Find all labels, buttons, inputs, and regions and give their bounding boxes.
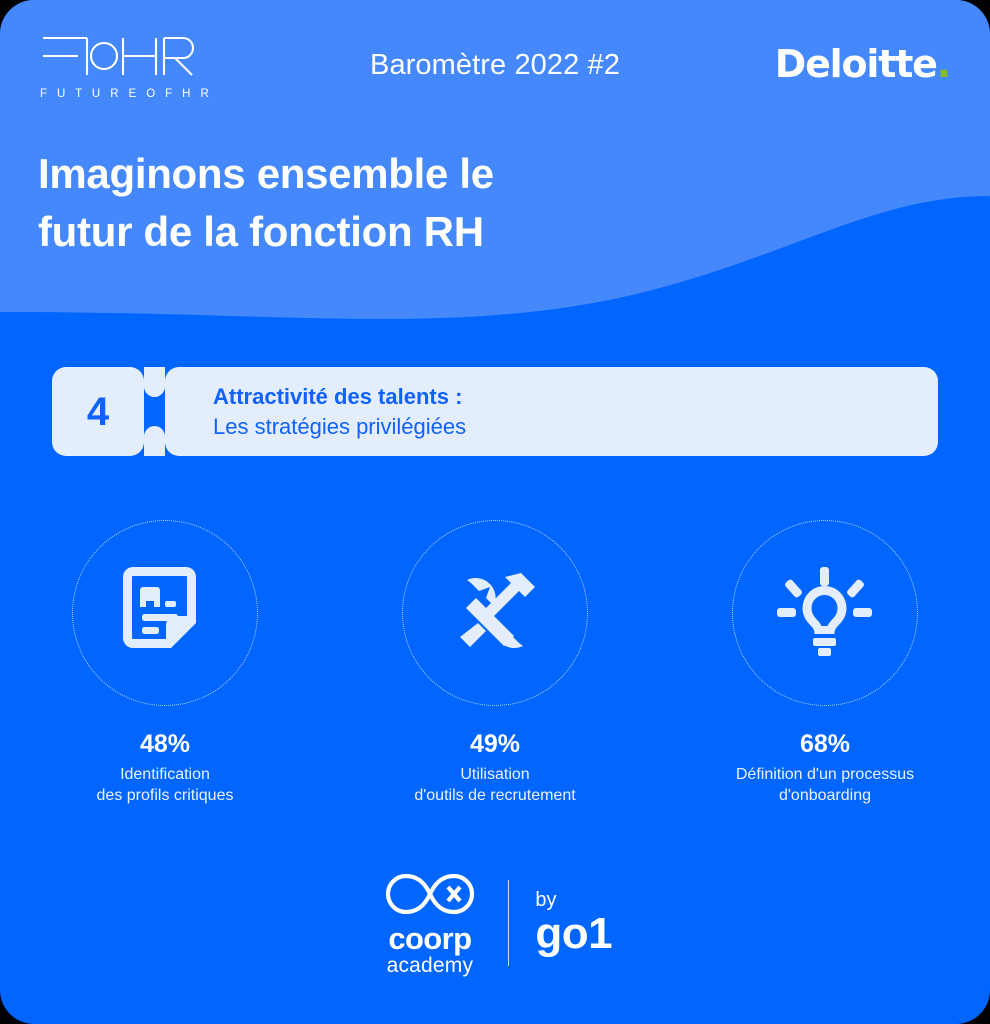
- deloitte-logo[interactable]: Deloitte.: [775, 42, 950, 86]
- stat-item: 49% Utilisation d'outils de recrutement: [330, 520, 660, 806]
- coorp-academy-sub: academy: [387, 954, 474, 978]
- section-title-line-2: Les stratégies privilégiées: [213, 412, 938, 442]
- stats-row: 48% Identification des profils critiques: [0, 520, 990, 806]
- stat-label: Identification des profils critiques: [97, 764, 234, 806]
- stat-icon-circle: [72, 520, 258, 706]
- section-title-box: Attractivité des talents : Les stratégie…: [165, 367, 938, 456]
- deloitte-wordmark: Deloitte: [775, 42, 937, 86]
- coorp-wordmark: coorp: [388, 923, 471, 954]
- stat-label: Utilisation d'outils de recrutement: [414, 764, 575, 806]
- section-number: 4: [87, 392, 109, 432]
- page-title-line-1: Imaginons ensemble le: [38, 145, 494, 203]
- go1-logo[interactable]: by go1: [535, 889, 612, 957]
- stat-value: 68%: [800, 732, 850, 757]
- tools-wrench-screwdriver-icon: [449, 567, 541, 659]
- infinity-x-icon: [378, 868, 482, 920]
- section-number-badge: 4: [52, 367, 144, 456]
- stat-value: 48%: [140, 732, 190, 757]
- stat-item: 48% Identification des profils critiques: [0, 520, 330, 806]
- coorp-academy-logo[interactable]: coorp academy: [378, 868, 482, 978]
- by-label: by: [535, 889, 556, 911]
- header: F U T U R E O F H R Baromètre 2022 #2 De…: [0, 0, 990, 330]
- banner-notch-divider: [144, 367, 165, 456]
- section-banner: 4 Attractivité des talents : Les stratég…: [52, 367, 938, 456]
- fohr-logo-tagline: F U T U R E O F H R: [38, 88, 208, 100]
- footer: coorp academy by go1: [0, 868, 990, 978]
- stat-icon-circle: [732, 520, 918, 706]
- stat-label: Définition d'un processus d'onboarding: [736, 764, 914, 806]
- deloitte-dot-icon: .: [937, 42, 950, 86]
- lightbulb-idea-icon: [777, 567, 873, 659]
- stat-value: 49%: [470, 732, 520, 757]
- document-grade-icon: [123, 567, 207, 659]
- stat-icon-circle: [402, 520, 588, 706]
- go1-wordmark: go1: [535, 911, 612, 957]
- infographic-card: F U T U R E O F H R Baromètre 2022 #2 De…: [0, 0, 990, 1024]
- stat-item: 68% Définition d'un processus d'onboardi…: [660, 520, 990, 806]
- page-title-line-2: futur de la fonction RH: [38, 203, 494, 261]
- footer-divider: [508, 880, 510, 966]
- section-title-line-1: Attractivité des talents :: [213, 382, 938, 412]
- page-title: Imaginons ensemble le futur de la foncti…: [38, 145, 494, 261]
